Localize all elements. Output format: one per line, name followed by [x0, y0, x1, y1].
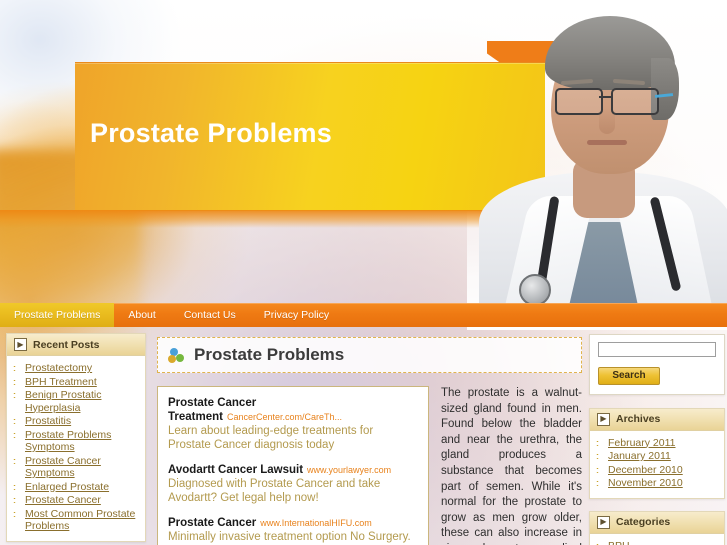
list-item: BPH Treatment [12, 376, 140, 389]
recent-post-link[interactable]: Prostate Cancer [25, 494, 101, 506]
list-item: February 2011 [595, 437, 719, 450]
list-item: Benign Prostatic Hyperplasia [12, 389, 140, 414]
doctor-photo [465, 0, 727, 303]
ad-description: Minimally invasive treatment option No S… [168, 531, 418, 545]
circle-gold [168, 355, 176, 363]
page-root: Prostate Problems Pr [0, 0, 727, 545]
nav-item-privacy-policy[interactable]: Privacy Policy [250, 303, 343, 327]
widget-categories-header: ▶ Categories [590, 512, 724, 534]
circle-green [176, 354, 184, 362]
ad-description: Learn about leading-edge treatments for … [168, 425, 418, 452]
nav-item-about[interactable]: About [114, 303, 169, 327]
archives-list: February 2011 January 2011 December 2010… [595, 437, 719, 490]
list-item: Prostate Problems Symptoms [12, 429, 140, 454]
ad-description: Diagnosed with Prostate Cancer and take … [168, 478, 418, 505]
lens-left [555, 88, 603, 115]
search-input[interactable] [598, 342, 716, 357]
glasses-bridge [599, 96, 613, 98]
chevron-right-box-icon: ▶ [597, 413, 610, 426]
list-item: Prostatectomy [12, 362, 140, 375]
widget-archives-title: Archives [616, 413, 660, 425]
left-sidebar: ▶ Recent Posts Prostatectomy BPH Treatme… [6, 333, 146, 545]
ad-url[interactable]: www.yourlawyer.com [307, 465, 391, 475]
ad-title[interactable]: Avodartt Cancer Lawsuit [168, 464, 303, 476]
archive-link[interactable]: December 2010 [608, 464, 683, 476]
content-columns: Prostate Cancer TreatmentCancerCenter.co… [157, 386, 582, 545]
widget-recent-posts-body: Prostatectomy BPH Treatment Benign Prost… [7, 356, 145, 541]
ad-heading: Avodartt Cancer Lawsuitwww.yourlawyer.co… [168, 463, 418, 477]
list-item: Enlarged Prostate [12, 481, 140, 494]
list-item: BPH [595, 540, 719, 545]
list-item: January 2011 [595, 450, 719, 463]
recent-post-link[interactable]: BPH Treatment [25, 376, 97, 388]
widget-categories: ▶ Categories BPH Prostate Cancer [589, 511, 725, 545]
widget-archives-body: February 2011 January 2011 December 2010… [590, 431, 724, 498]
eyeglasses-icon [553, 88, 669, 112]
widget-recent-posts-header: ▶ Recent Posts [7, 334, 145, 356]
widget-recent-posts-title: Recent Posts [33, 339, 100, 351]
main-navigation: Prostate Problems About Contact Us Priva… [0, 303, 727, 327]
article-body: The prostate is a walnut-sized gland fou… [429, 386, 582, 545]
archive-link[interactable]: January 2011 [608, 450, 671, 462]
widget-categories-title: Categories [616, 516, 670, 528]
recent-post-link[interactable]: Prostate Cancer Symptoms [25, 455, 101, 480]
page-title: Prostate Problems [194, 345, 344, 365]
search-button[interactable]: Search [598, 367, 660, 385]
list-item: Prostatitis [12, 415, 140, 428]
list-item: Most Common Prostate Problems [12, 508, 140, 533]
advertisement-block: Prostate Cancer TreatmentCancerCenter.co… [157, 386, 429, 545]
widget-recent-posts: ▶ Recent Posts Prostatectomy BPH Treatme… [6, 333, 146, 542]
colored-circles-icon [168, 348, 185, 363]
recent-post-link[interactable]: Most Common Prostate Problems [25, 508, 135, 533]
recent-post-link[interactable]: Prostatectomy [25, 362, 92, 374]
recent-post-link[interactable]: Prostatitis [25, 415, 71, 427]
list-item: Prostate Cancer Symptoms [12, 455, 140, 480]
list-item: December 2010 [595, 464, 719, 477]
recent-post-link[interactable]: Benign Prostatic Hyperplasia [25, 389, 101, 414]
ad-item[interactable]: Avodartt Cancer Lawsuitwww.yourlawyer.co… [168, 463, 418, 505]
ad-item[interactable]: Prostate Cancerwww.InternationalHIFU.com… [168, 516, 418, 545]
archive-link[interactable]: February 2011 [608, 437, 676, 449]
category-link[interactable]: BPH [608, 540, 630, 545]
categories-list: BPH Prostate Cancer [595, 540, 719, 545]
ad-title[interactable]: Prostate Cancer [168, 517, 256, 529]
site-header: Prostate Problems [0, 0, 727, 303]
nav-item-prostate-problems[interactable]: Prostate Problems [0, 303, 114, 327]
widget-categories-body: BPH Prostate Cancer [590, 534, 724, 545]
site-title: Prostate Problems [90, 118, 332, 149]
lens-right [611, 88, 659, 115]
ad-url[interactable]: CancerCenter.com/CareTh... [227, 412, 342, 422]
chevron-right-box-icon: ▶ [597, 516, 610, 529]
recent-post-link[interactable]: Prostate Problems Symptoms [25, 429, 111, 454]
stethoscope-bell-icon [519, 274, 551, 303]
page-title-container: Prostate Problems [157, 337, 582, 373]
nav-item-contact-us[interactable]: Contact Us [170, 303, 250, 327]
archive-link[interactable]: November 2010 [608, 477, 683, 489]
list-item: Prostate Cancer [12, 494, 140, 507]
right-sidebar: Search ▶ Archives February 2011 January … [589, 334, 725, 545]
chevron-right-box-icon: ▶ [14, 338, 27, 351]
widget-archives-header: ▶ Archives [590, 409, 724, 431]
ad-url[interactable]: www.InternationalHIFU.com [260, 518, 372, 528]
recent-posts-list: Prostatectomy BPH Treatment Benign Prost… [12, 362, 140, 533]
ad-heading: Prostate Cancerwww.InternationalHIFU.com [168, 516, 418, 530]
widget-archives: ▶ Archives February 2011 January 2011 De… [589, 408, 725, 499]
main-content: Prostate Problems Prostate Cancer Treatm… [157, 337, 582, 545]
ad-heading: Prostate Cancer TreatmentCancerCenter.co… [168, 396, 418, 424]
recent-post-link[interactable]: Enlarged Prostate [25, 481, 109, 493]
ad-item[interactable]: Prostate Cancer TreatmentCancerCenter.co… [168, 396, 418, 452]
doctor-mouth [587, 140, 627, 145]
list-item: November 2010 [595, 477, 719, 490]
widget-search: Search [589, 334, 725, 395]
